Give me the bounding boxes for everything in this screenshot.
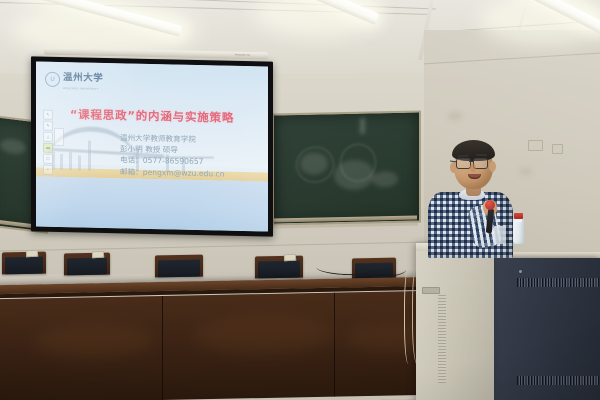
chair-backrest bbox=[5, 257, 43, 275]
chair-backrest bbox=[158, 260, 200, 278]
bridge-pillar bbox=[60, 154, 63, 170]
rack-vent-top bbox=[517, 278, 599, 287]
equipment-rack bbox=[491, 258, 600, 400]
slide-line-email: 邮箱：pengxm@wzu.edu.cn bbox=[120, 166, 225, 180]
projection-screen: U 温州大学 WENZHOU UNIVERSITY ↖ ✎ △ ▬ ◻ • “课… bbox=[31, 56, 273, 236]
pen-tool-icon[interactable]: ✎ bbox=[43, 121, 53, 131]
chair-backrest bbox=[67, 258, 107, 276]
lectern[interactable] bbox=[416, 243, 494, 400]
slide-university-logo: U 温州大学 WENZHOU UNIVERSITY bbox=[45, 69, 103, 91]
ppt-toolbar-flyout[interactable] bbox=[54, 128, 64, 146]
name-card bbox=[26, 250, 38, 258]
glasses-bridge bbox=[469, 161, 473, 162]
laser-tool-icon[interactable]: • bbox=[43, 165, 53, 175]
chair-1[interactable] bbox=[2, 252, 46, 275]
rack-vent-bottom bbox=[517, 376, 599, 385]
lectern-vent bbox=[438, 295, 446, 383]
chair-3[interactable] bbox=[155, 255, 203, 278]
logo-emblem-icon: U bbox=[45, 72, 60, 87]
bridge-pillar bbox=[78, 155, 81, 170]
speaker-nose bbox=[470, 164, 476, 172]
slide-water-band bbox=[36, 176, 268, 231]
blackboard-right bbox=[272, 110, 421, 225]
speaker-ear bbox=[489, 161, 496, 172]
glasses-left-lens bbox=[456, 158, 471, 169]
microphone-head-icon bbox=[485, 200, 495, 210]
chair-backrest bbox=[258, 261, 300, 279]
eraser-tool-icon[interactable]: ◻ bbox=[43, 154, 53, 164]
wall-smudge bbox=[448, 112, 462, 120]
chalk-mark bbox=[334, 159, 374, 190]
lectern-latch[interactable] bbox=[422, 287, 440, 294]
rack-screw bbox=[519, 270, 522, 273]
bridge-pylon bbox=[88, 141, 91, 171]
lecture-hall-photo: PROJECTA U 温州大学 WENZHOU UNIVE bbox=[0, 0, 600, 400]
bottle-cap[interactable] bbox=[514, 213, 523, 219]
name-card bbox=[92, 251, 104, 259]
highlighter-tool-icon[interactable]: ▬ bbox=[43, 143, 53, 153]
chalk-mark bbox=[360, 118, 365, 134]
wall-smudge bbox=[520, 168, 532, 175]
wall-outlet-right[interactable] bbox=[552, 144, 563, 154]
slide-body-text: 温州大学教师教育学院 彭小明 教授 硕导 电话：0577-86590657 邮箱… bbox=[120, 132, 225, 179]
chalk-mark bbox=[372, 171, 398, 188]
shape-tool-icon[interactable]: △ bbox=[43, 132, 53, 142]
bridge-pillar bbox=[69, 152, 72, 170]
roller-brand-label: PROJECTA bbox=[235, 54, 250, 57]
wall-outlet-left[interactable] bbox=[528, 140, 543, 151]
front-desk-row bbox=[0, 277, 430, 400]
chalk-mark bbox=[0, 138, 26, 155]
name-card bbox=[284, 254, 296, 262]
projected-slide: U 温州大学 WENZHOU UNIVERSITY ↖ ✎ △ ▬ ◻ • “课… bbox=[36, 61, 268, 231]
glass-cup[interactable] bbox=[494, 226, 506, 244]
logo-chinese-name: 温州大学 bbox=[63, 69, 103, 84]
